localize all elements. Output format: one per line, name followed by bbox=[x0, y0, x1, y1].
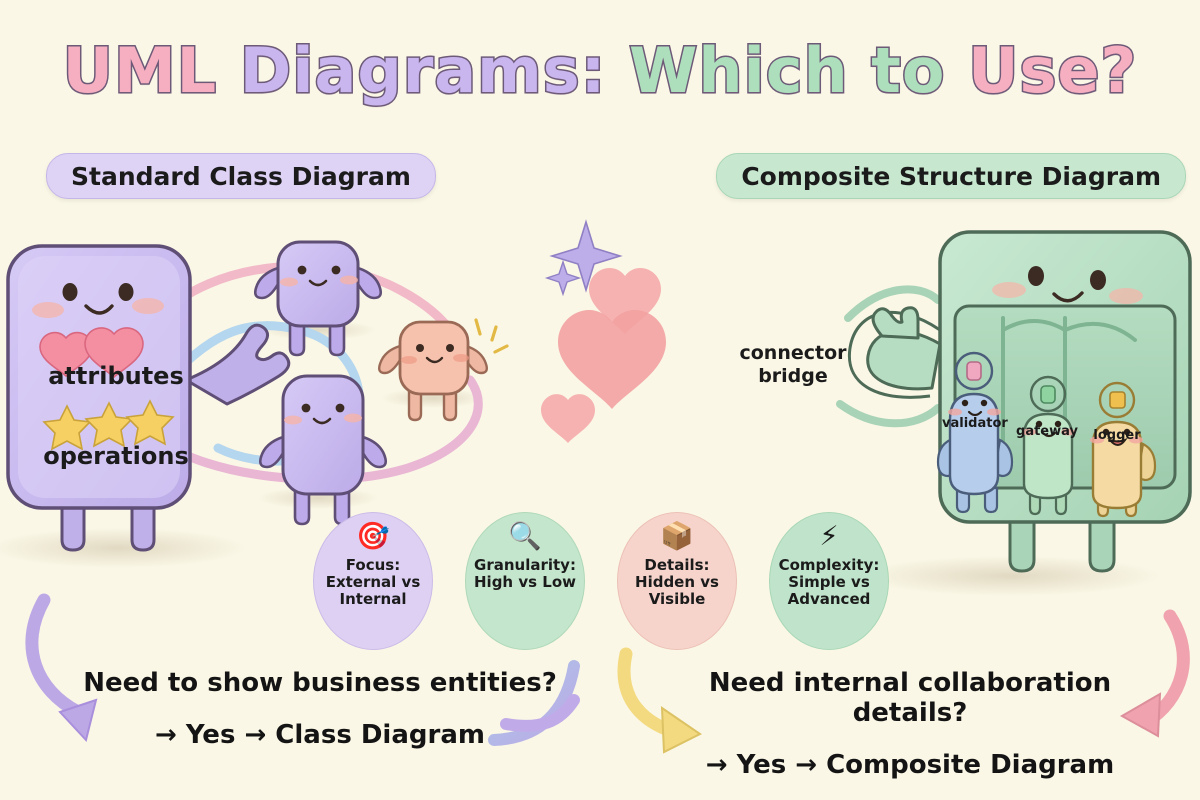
conclusion-right: Need internal collaboration details? → Y… bbox=[650, 668, 1170, 780]
title-part-use: Use? bbox=[968, 34, 1137, 107]
label-connector-bridge: connector bridge bbox=[733, 342, 853, 388]
center-decor bbox=[541, 222, 666, 443]
poster-canvas: UML Diagrams: Which to Use? Standard Cla… bbox=[0, 0, 1200, 800]
package-icon: 📦 bbox=[660, 523, 694, 553]
criteria-circle-focus: 🎯 Focus: External vs Internal bbox=[313, 512, 433, 650]
conclusion-left-question: Need to show business entities? bbox=[70, 668, 570, 698]
label-operations: operations bbox=[36, 442, 196, 470]
conclusion-left: Need to show business entities? → Yes → … bbox=[70, 668, 570, 750]
lightning-icon: ⚡ bbox=[820, 523, 839, 553]
title-part-which: Which to bbox=[629, 34, 968, 107]
magnifier-icon: 🔍 bbox=[508, 523, 542, 553]
section-label-standard-class-diagram: Standard Class Diagram bbox=[46, 153, 436, 199]
class-box-character bbox=[8, 246, 289, 550]
criteria-label-granularity: Granularity: High vs Low bbox=[474, 557, 576, 591]
conclusion-left-answer: → Yes → Class Diagram bbox=[70, 720, 570, 750]
composite-structure-character bbox=[849, 232, 1190, 571]
conclusion-right-question: Need internal collaboration details? bbox=[650, 668, 1170, 728]
label-part-validator: validator bbox=[942, 416, 1006, 431]
criteria-label-details: Details: Hidden vs Visible bbox=[635, 557, 719, 608]
label-part-gateway: gateway bbox=[1016, 424, 1078, 439]
criteria-circle-complexity: ⚡ Complexity: Simple vs Advanced bbox=[769, 512, 889, 650]
heart-icon bbox=[541, 394, 595, 443]
title-part-diagrams: Diagrams: bbox=[240, 34, 629, 107]
section-label-composite-structure-diagram: Composite Structure Diagram bbox=[716, 153, 1186, 199]
criteria-label-focus: Focus: External vs Internal bbox=[326, 557, 421, 608]
criteria-circle-granularity: 🔍 Granularity: High vs Low bbox=[465, 512, 585, 650]
heart-icon bbox=[558, 310, 666, 409]
conclusion-right-answer: → Yes → Composite Diagram bbox=[650, 750, 1170, 780]
label-part-logger: logger bbox=[1088, 428, 1146, 443]
page-title: UML Diagrams: Which to Use? bbox=[0, 34, 1200, 107]
label-attributes: attributes bbox=[36, 362, 196, 390]
sparkle-icon bbox=[547, 262, 579, 294]
title-part-uml: UML bbox=[63, 34, 240, 107]
target-icon: 🎯 bbox=[356, 523, 390, 553]
criteria-label-complexity: Complexity: Simple vs Advanced bbox=[779, 557, 880, 608]
criteria-circle-details: 📦 Details: Hidden vs Visible bbox=[617, 512, 737, 650]
